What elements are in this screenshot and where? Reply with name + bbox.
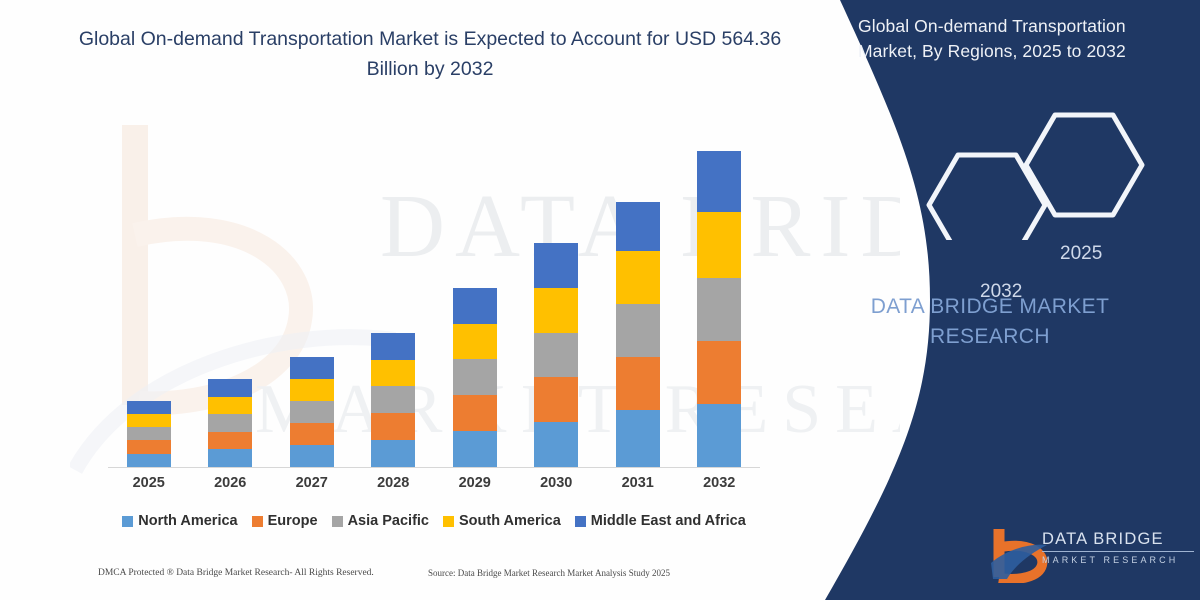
bar-segment: [290, 357, 334, 379]
x-axis-label: 2025: [108, 475, 190, 491]
bar-segment: [697, 341, 741, 404]
legend-label: Asia Pacific: [348, 513, 429, 529]
bar-segment: [453, 359, 497, 395]
bar-segment: [453, 431, 497, 467]
x-axis-label: 2026: [190, 475, 272, 491]
stacked-bar: [290, 357, 334, 467]
legend-label: Middle East and Africa: [591, 513, 746, 529]
bar-segment: [371, 360, 415, 387]
bar-segment: [453, 395, 497, 431]
bar-segment: [208, 432, 252, 450]
legend-item: North America: [122, 513, 237, 529]
legend-item: Middle East and Africa: [575, 513, 746, 529]
bar-segment: [697, 151, 741, 212]
logo-line2: MARKET RESEARCH: [1042, 555, 1200, 565]
stacked-bar: [371, 333, 415, 467]
hexagon-2025-label: 2025: [1060, 243, 1102, 265]
x-axis-label: 2027: [271, 475, 353, 491]
legend-item: Europe: [252, 513, 318, 529]
bar-column: [271, 140, 353, 467]
stacked-bar: [616, 202, 660, 467]
bar-segment: [127, 414, 171, 427]
bar-segment: [208, 397, 252, 415]
bar-segment: [697, 404, 741, 467]
bar-segment: [616, 357, 660, 410]
x-axis-labels: 20252026202720282029203020312032: [108, 475, 760, 491]
bar-segment: [208, 379, 252, 397]
panel-title: Global On-demand Transportation Market, …: [858, 14, 1188, 64]
bar-group: [108, 140, 760, 467]
bar-segment: [616, 304, 660, 357]
bar-column: [190, 140, 272, 467]
bar-segment: [534, 422, 578, 467]
logo-line1: DATA BRIDGE: [1042, 530, 1200, 549]
legend-label: South America: [459, 513, 561, 529]
legend-swatch: [332, 516, 343, 527]
bar-segment: [534, 243, 578, 288]
x-axis-label: 2031: [597, 475, 679, 491]
legend-item: South America: [443, 513, 561, 529]
brand-name-line1: DATA BRIDGE MARKET: [820, 292, 1160, 322]
bar-segment: [127, 401, 171, 414]
bar-segment: [616, 410, 660, 467]
bar-column: [108, 140, 190, 467]
brand-panel: Global On-demand Transportation Market, …: [780, 0, 1200, 600]
footer: DMCA Protected ® Data Bridge Market Rese…: [0, 568, 800, 588]
bar-column: [353, 140, 435, 467]
stacked-bar: [208, 379, 252, 467]
bar-segment: [371, 333, 415, 360]
bar-segment: [290, 401, 334, 423]
bar-segment: [697, 278, 741, 341]
legend-swatch: [575, 516, 586, 527]
bar-segment: [697, 212, 741, 278]
x-axis-line: [108, 467, 760, 468]
logo-divider: [1042, 551, 1194, 552]
bar-segment: [290, 379, 334, 401]
bar-column: [679, 140, 761, 467]
stacked-bar: [534, 243, 578, 467]
legend-swatch: [252, 516, 263, 527]
legend-swatch: [122, 516, 133, 527]
x-axis-label: 2030: [516, 475, 598, 491]
brand-panel-content: Global On-demand Transportation Market, …: [780, 0, 1200, 600]
bar-segment: [616, 202, 660, 251]
legend-label: Europe: [268, 513, 318, 529]
x-axis-label: 2029: [434, 475, 516, 491]
bar-segment: [127, 440, 171, 453]
brand-name: DATA BRIDGE MARKET RESEARCH: [820, 292, 1160, 352]
legend-label: North America: [138, 513, 237, 529]
page-title: Global On-demand Transportation Market i…: [60, 24, 800, 84]
bar-column: [434, 140, 516, 467]
bar-segment: [208, 414, 252, 432]
dbmr-logo-text: DATA BRIDGE MARKET RESEARCH: [1042, 530, 1200, 565]
bar-segment: [534, 377, 578, 422]
bar-segment: [534, 288, 578, 333]
footer-source: Source: Data Bridge Market Research Mark…: [428, 568, 670, 578]
bar-segment: [127, 454, 171, 467]
bar-segment: [616, 251, 660, 304]
bar-segment: [208, 449, 252, 467]
x-axis-label: 2028: [353, 475, 435, 491]
x-axis-label: 2032: [679, 475, 761, 491]
hexagon-group: 2025 2032: [900, 100, 1200, 240]
bar-segment: [290, 445, 334, 467]
legend-item: Asia Pacific: [332, 513, 429, 529]
stacked-bar: [453, 288, 497, 467]
bar-segment: [534, 333, 578, 378]
bar-segment: [290, 423, 334, 445]
legend-swatch: [443, 516, 454, 527]
bar-segment: [453, 324, 497, 360]
bar-segment: [371, 413, 415, 440]
bar-segment: [453, 288, 497, 324]
plot-area: [108, 140, 760, 468]
infographic-root: DATA BRIDGE MARKET RESEARCH Global On-de…: [0, 0, 1200, 600]
bar-segment: [371, 386, 415, 413]
footer-copyright: DMCA Protected ® Data Bridge Market Rese…: [98, 568, 374, 578]
chart-legend: North AmericaEuropeAsia PacificSouth Ame…: [100, 513, 768, 529]
stacked-bar: [127, 401, 171, 467]
bar-column: [516, 140, 598, 467]
bar-segment: [371, 440, 415, 467]
bar-segment: [127, 427, 171, 440]
chart-panel: DATA BRIDGE MARKET RESEARCH Global On-de…: [0, 0, 900, 600]
bar-column: [597, 140, 679, 467]
stacked-bar: [697, 151, 741, 467]
brand-name-line2: RESEARCH: [820, 322, 1160, 352]
